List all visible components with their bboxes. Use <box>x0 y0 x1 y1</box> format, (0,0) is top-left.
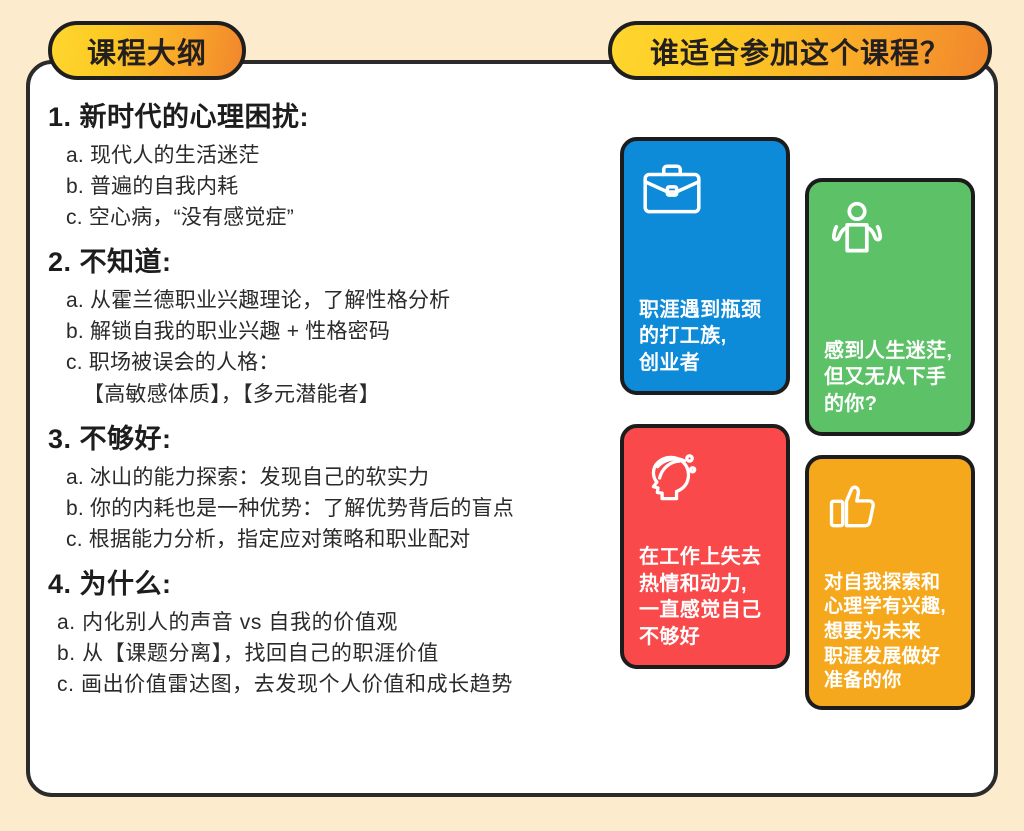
caption-line: 对自我探索和 <box>824 571 956 596</box>
caption-line: 不够好 <box>639 624 771 650</box>
thumbs-up-icon <box>824 475 884 535</box>
course-outline-list: 1. 新时代的心理困扰: a. 现代人的生活迷茫 b. 普遍的自我内耗 c. 空… <box>48 102 608 706</box>
caption-line: 创业者 <box>639 350 771 376</box>
outline-item: b. 解锁自我的职业兴趣 + 性格密码 <box>66 316 608 347</box>
outline-section-items: a. 从霍兰德职业兴趣理论，了解性格分析 b. 解锁自我的职业兴趣 + 性格密码… <box>48 285 608 409</box>
outline-item: b. 从【课题分离】，找回自己的职涯价值 <box>57 638 608 669</box>
audience-card-orange-caption: 对自我探索和 心理学有兴趣, 想要为未来 职涯发展做好 准备的你 <box>824 571 956 694</box>
caption-line: 一直感觉自己 <box>639 597 771 623</box>
badge-course-outline: 课程大纲 <box>48 21 246 80</box>
caption-line: 职涯遇到瓶颈 <box>639 297 771 323</box>
outline-item: b. 普遍的自我内耗 <box>66 171 608 202</box>
outline-item: a. 内化别人的声音 vs 自我的价值观 <box>57 607 608 638</box>
outline-section-items: a. 冰山的能力探索：发现自己的软实力 b. 你的内耗也是一种优势：了解优势背后… <box>48 462 608 555</box>
audience-card-red-caption: 在工作上失去 热情和动力, 一直感觉自己 不够好 <box>639 544 771 650</box>
badge-course-outline-label: 课程大纲 <box>87 30 207 72</box>
outline-section-title: 3. 不够好: <box>48 424 608 455</box>
caption-line: 的打工族, <box>639 323 771 349</box>
outline-section-items: a. 内化别人的声音 vs 自我的价值观 b. 从【课题分离】，找回自己的职涯价… <box>48 607 608 700</box>
outline-item: c. 画出价值雷达图，去发现个人价值和成长趋势 <box>57 669 608 700</box>
caption-line: 心理学有兴趣, <box>824 595 956 620</box>
outline-section: 1. 新时代的心理困扰: a. 现代人的生活迷茫 b. 普遍的自我内耗 c. 空… <box>48 102 608 233</box>
outline-section: 4. 为什么: a. 内化别人的声音 vs 自我的价值观 b. 从【课题分离】，… <box>48 569 608 700</box>
outline-section: 2. 不知道: a. 从霍兰德职业兴趣理论，了解性格分析 b. 解锁自我的职业兴… <box>48 247 608 409</box>
outline-section: 3. 不够好: a. 冰山的能力探索：发现自己的软实力 b. 你的内耗也是一种优… <box>48 424 608 555</box>
outline-item: a. 冰山的能力探索：发现自己的软实力 <box>66 462 608 493</box>
outline-section-items: a. 现代人的生活迷茫 b. 普遍的自我内耗 c. 空心病，“没有感觉症” <box>48 140 608 233</box>
caption-line: 但又无从下手 <box>824 364 956 390</box>
head-mind-icon <box>639 444 705 510</box>
caption-line: 在工作上失去 <box>639 544 771 570</box>
shrug-person-icon <box>824 198 890 264</box>
outline-item: c. 职场被误会的人格： <box>66 347 608 378</box>
outline-section-title: 4. 为什么: <box>48 569 608 600</box>
outline-section-title: 1. 新时代的心理困扰: <box>48 102 608 133</box>
caption-line: 热情和动力, <box>639 571 771 597</box>
audience-card-green: 感到人生迷茫, 但又无从下手 的你? <box>805 178 975 436</box>
audience-card-green-caption: 感到人生迷茫, 但又无从下手 的你? <box>824 338 956 417</box>
caption-line: 的你? <box>824 391 956 417</box>
outline-item: c. 根据能力分析，指定应对策略和职业配对 <box>66 524 608 555</box>
audience-card-blue: 职涯遇到瓶颈 的打工族, 创业者 <box>620 137 790 395</box>
outline-item: a. 从霍兰德职业兴趣理论，了解性格分析 <box>66 285 608 316</box>
badge-who-should-join: 谁适合参加这个课程？ <box>608 21 992 80</box>
caption-line: 感到人生迷茫, <box>824 338 956 364</box>
audience-card-blue-caption: 职涯遇到瓶颈 的打工族, 创业者 <box>639 297 771 376</box>
audience-card-red: 在工作上失去 热情和动力, 一直感觉自己 不够好 <box>620 424 790 669</box>
outline-item: b. 你的内耗也是一种优势：了解优势背后的盲点 <box>66 493 608 524</box>
audience-card-orange: 对自我探索和 心理学有兴趣, 想要为未来 职涯发展做好 准备的你 <box>805 455 975 710</box>
caption-line: 想要为未来 <box>824 620 956 645</box>
outline-item-continuation: 【高敏感体质】，【多元潜能者】 <box>66 379 608 410</box>
caption-line: 准备的你 <box>824 669 956 694</box>
briefcase-icon <box>639 157 705 223</box>
caption-line: 职涯发展做好 <box>824 645 956 670</box>
outline-item: a. 现代人的生活迷茫 <box>66 140 608 171</box>
outline-item: c. 空心病，“没有感觉症” <box>66 202 608 233</box>
badge-who-should-join-label: 谁适合参加这个课程？ <box>650 30 950 72</box>
outline-section-title: 2. 不知道: <box>48 247 608 278</box>
